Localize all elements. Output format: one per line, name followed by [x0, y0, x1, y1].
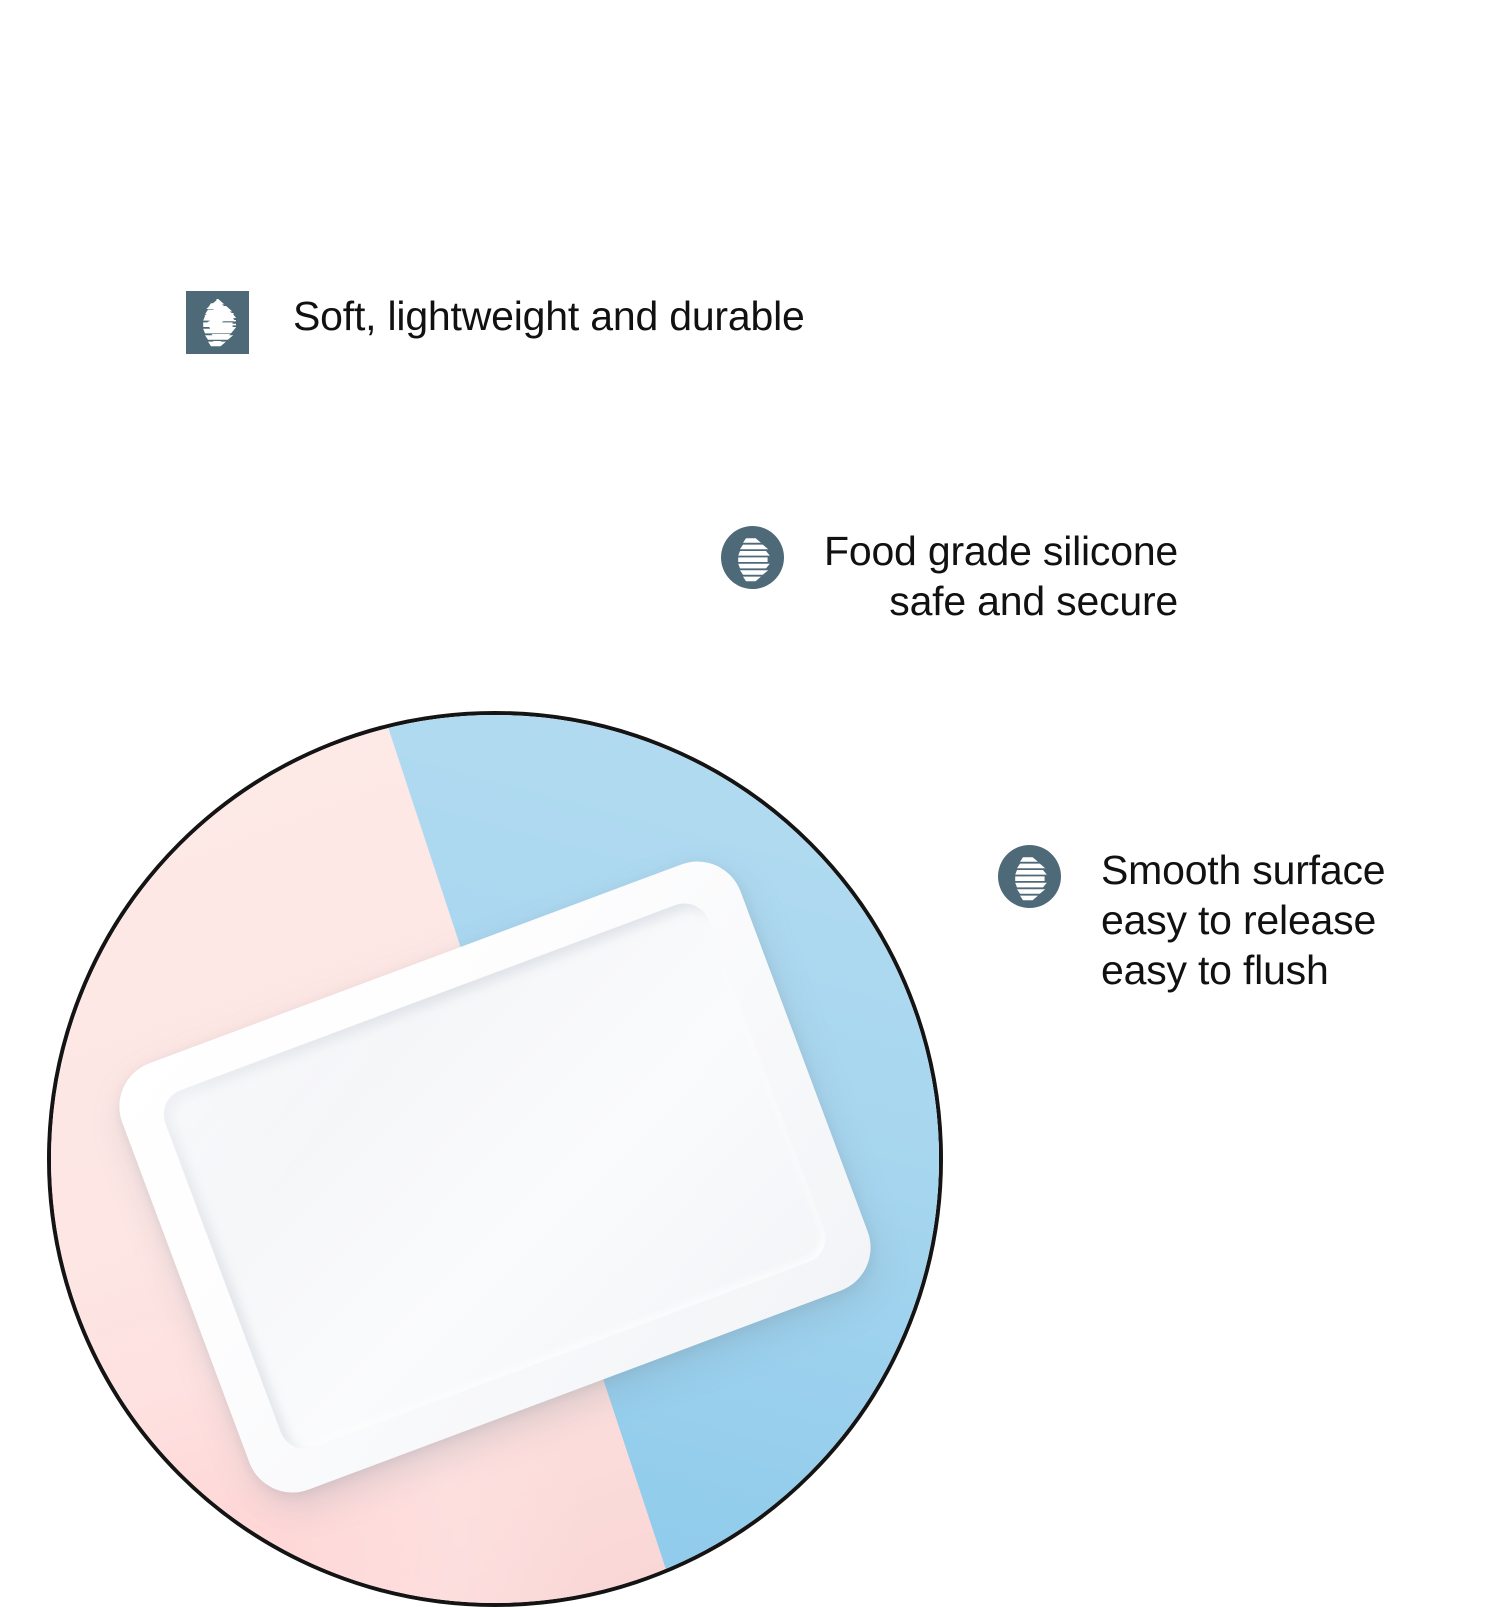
- product-photo-circle: [47, 711, 943, 1607]
- feature-label: Smooth surface easy to release easy to f…: [1101, 845, 1385, 995]
- feature-label: Soft, lightweight and durable: [293, 291, 805, 341]
- feature-item-smooth-surface: Smooth surface easy to release easy to f…: [998, 845, 1385, 995]
- feature-item-soft-lightweight: Soft, lightweight and durable: [186, 291, 805, 354]
- striped-arrow-right-icon: [186, 291, 249, 354]
- striped-arrow-right-icon: [721, 526, 784, 589]
- product-photo-scene: [51, 715, 939, 1603]
- feature-item-food-grade-silicone: Food grade silicone safe and secure: [721, 526, 1178, 626]
- feature-label: Food grade silicone safe and secure: [824, 526, 1178, 626]
- striped-arrow-right-icon: [998, 845, 1061, 908]
